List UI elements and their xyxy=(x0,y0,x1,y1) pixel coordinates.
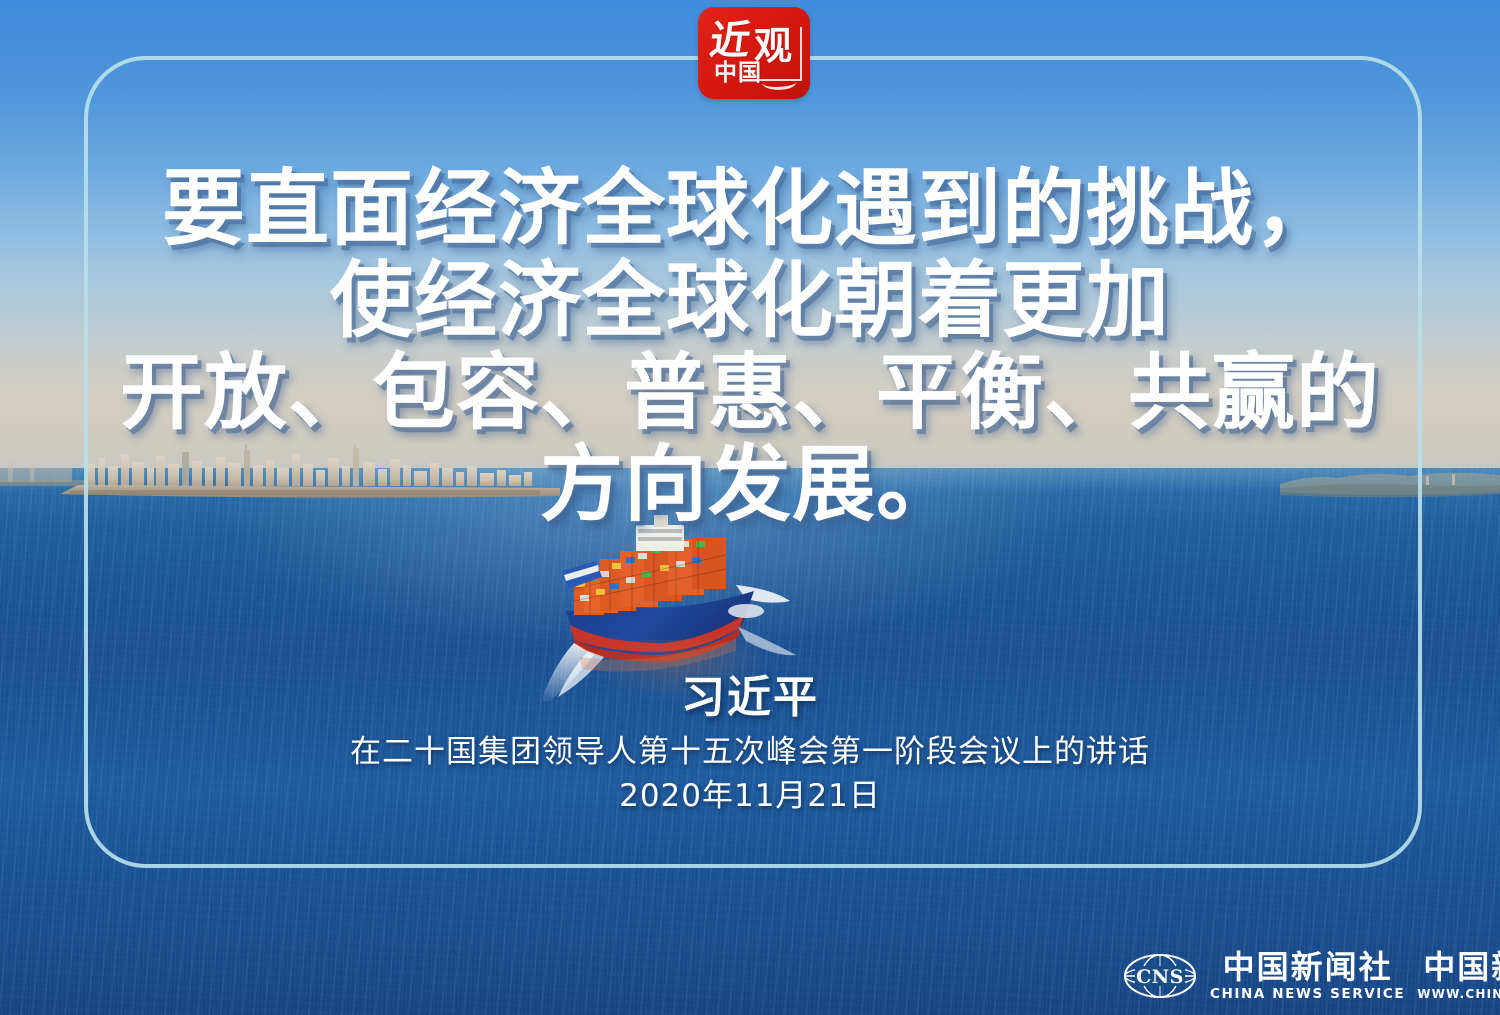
headline-line-3: 开放、包容、普惠、平衡、共赢的 xyxy=(0,347,1500,439)
org-name-cn: 中国新闻社 xyxy=(1223,950,1393,984)
headline-line-1: 要直面经济全球化遇到的挑战， xyxy=(0,163,1500,255)
occasion-text: 在二十国集团领导人第十五次峰会第一阶段会议上的讲话 xyxy=(0,732,1500,772)
attribution-block: 习近平 在二十国集团领导人第十五次峰会第一阶段会议上的讲话 2020年11月21… xyxy=(0,672,1500,816)
headline-quote: 要直面经济全球化遇到的挑战， 使经济全球化朝着更加 开放、包容、普惠、平衡、共赢… xyxy=(0,163,1500,531)
speech-date: 2020年11月21日 xyxy=(0,776,1500,816)
logo-swoosh-icon xyxy=(761,73,796,91)
org-name-en: CHINA NEWS SERVICE xyxy=(1210,986,1405,1002)
site-url: WWW.CHINANEWS.COM xyxy=(1417,986,1500,1002)
footer-branding: CNS 中国新闻社 CHINA NEWS SERVICE 中国新闻网 WWW.C… xyxy=(1122,945,1500,1007)
headline-line-2: 使经济全球化朝着更加 xyxy=(0,255,1500,347)
jinguan-zhongguo-logo[interactable]: 近 观 中国 xyxy=(698,7,810,99)
poster-canvas: 近 观 中国 要直面经济全球化遇到的挑战， 使经济全球化朝着更加 开放、包容、普… xyxy=(0,0,1500,1015)
site-name-cn: 中国新闻网 xyxy=(1423,950,1500,984)
headline-line-4: 方向发展。 xyxy=(0,439,1500,531)
org-name-block: 中国新闻社 CHINA NEWS SERVICE xyxy=(1210,950,1405,1002)
logo-char-zhongguo: 中国 xyxy=(714,61,762,84)
speaker-name: 习近平 xyxy=(0,672,1500,724)
logo-char-jin: 近 xyxy=(708,21,753,61)
cns-globe-icon: CNS xyxy=(1122,952,1198,1000)
site-name-block[interactable]: 中国新闻网 WWW.CHINANEWS.COM xyxy=(1417,950,1500,1002)
svg-text:CNS: CNS xyxy=(1136,966,1184,988)
